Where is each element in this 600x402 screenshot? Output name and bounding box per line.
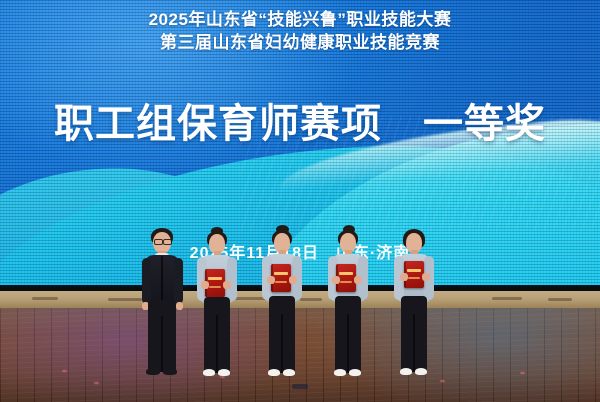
leg-gap [413, 314, 415, 372]
ceremony-photo: 2025年山东省“技能兴鲁”职业技能大赛 第三届山东省妇幼健康职业技能竞赛 职工… [0, 0, 600, 402]
leg-gap [161, 316, 163, 372]
shoe-right [415, 368, 427, 375]
person-awardee-4: 女性，浅灰蓝卫衣，黑色长裤，白鞋 [386, 228, 442, 388]
shoe-right [349, 369, 361, 376]
wall-mark [32, 297, 58, 300]
person-presenter: 男性，黑色外套，深色毛衣，眼镜 [133, 228, 191, 388]
shoe-right [218, 369, 230, 376]
hand-left [201, 281, 209, 289]
person-awardee-1: 女性，浅灰蓝卫衣，黑色长裤，白鞋 [189, 229, 245, 389]
certificate-sub-text [209, 286, 220, 288]
glasses-icon [154, 239, 163, 245]
certificate-sub-text [275, 281, 286, 283]
hand-right [354, 276, 362, 284]
screen-header: 2025年山东省“技能兴鲁”职业技能大赛 第三届山东省妇幼健康职业技能竞赛 [0, 9, 600, 54]
hand-right [223, 281, 231, 289]
shoe-right [163, 368, 177, 375]
arm-left [142, 258, 151, 304]
shoe-left [400, 368, 412, 375]
screen-main-title: 职工组保育师赛项 一等奖 [0, 104, 600, 144]
header-line-1: 2025年山东省“技能兴鲁”职业技能大赛 [0, 9, 600, 32]
hand-left [332, 276, 340, 284]
person-awardee-3: 女性，浅灰蓝卫衣，黑色长裤，白鞋 [320, 228, 376, 388]
header-line-2: 第三届山东省妇幼健康职业技能竞赛 [0, 32, 600, 55]
certificate-title-text [274, 272, 288, 275]
jacket-seam [161, 256, 163, 306]
certificate-sub-text [408, 277, 419, 279]
leg-gap [281, 314, 283, 373]
hand-right [176, 302, 183, 310]
arm-right [174, 258, 183, 304]
certificate-title-text [339, 272, 353, 275]
leg-gap [216, 315, 218, 373]
hand-right [422, 273, 430, 281]
arm-right [227, 257, 237, 301]
certificate-title-text [407, 269, 421, 272]
floor-light-spot [94, 382, 99, 384]
floor-light-spot [62, 370, 67, 372]
shoe-left [268, 369, 280, 376]
hand-left [400, 273, 408, 281]
certificate-sub-text [340, 281, 351, 283]
wall-mark [492, 297, 522, 300]
hand-right [289, 276, 297, 284]
hand-left [267, 276, 275, 284]
shoe-right [283, 369, 295, 376]
leg-gap [347, 314, 349, 373]
floor-light-spot [520, 372, 525, 374]
certificate-title-text [208, 277, 222, 280]
glasses-icon [163, 239, 172, 245]
shoe-left [334, 369, 346, 376]
person-awardee-2: 女性，浅灰蓝卫衣，黑色长裤，白鞋 [254, 228, 310, 388]
wall-mark [548, 298, 572, 301]
shoe-left [146, 368, 160, 375]
shoe-left [203, 369, 215, 376]
